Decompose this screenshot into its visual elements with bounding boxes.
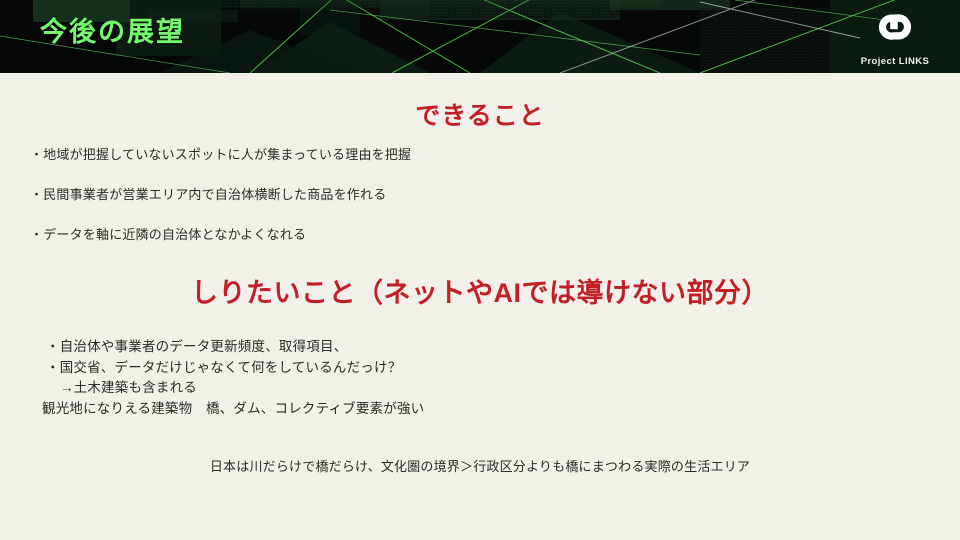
list-can-do: ・地域が把握していないスポットに人が集まっている理由を把握 ・民間事業者が営業エ… [30, 148, 730, 268]
project-links-logo: Project LINKS [852, 6, 938, 68]
closing-note: 日本は川だらけで橋だらけ、文化圏の境界＞行政区分よりも橋にまつわる実際の生活エリ… [0, 456, 960, 475]
list-item: 観光地になりえる建築物 橋、ダム、コレクティブ要素が強い [42, 399, 802, 420]
slide-canvas: 今後の展望 Project LINKS できること ・地域が把握していないスポッ… [0, 0, 960, 540]
links-logo-mark-icon [874, 8, 916, 46]
list-item: ・データを軸に近隣の自治体となかよくなれる [30, 228, 730, 241]
list-item: ・自治体や事業者のデータ更新頻度、取得項目、 [42, 337, 802, 358]
slide-header: 今後の展望 Project LINKS [0, 0, 960, 73]
logo-wordmark: Project LINKS [852, 56, 938, 67]
list-want-to-know: ・自治体や事業者のデータ更新頻度、取得項目、 ・国交省、データだけじゃなくて何を… [42, 337, 802, 419]
list-item: ・国交省、データだけじゃなくて何をしているんだっけ？ [42, 358, 802, 379]
list-item: ・民間事業者が営業エリア内で自治体横断した商品を作れる [30, 188, 730, 201]
list-item: ・地域が把握していないスポットに人が集まっている理由を把握 [30, 148, 730, 161]
heading-want-to-know: しりたいこと（ネットやAIでは導けない部分） [0, 271, 960, 310]
heading-can-do: できること [0, 96, 960, 132]
page-title: 今後の展望 [40, 19, 185, 46]
list-item: →土木建築も含まれる [42, 378, 802, 399]
